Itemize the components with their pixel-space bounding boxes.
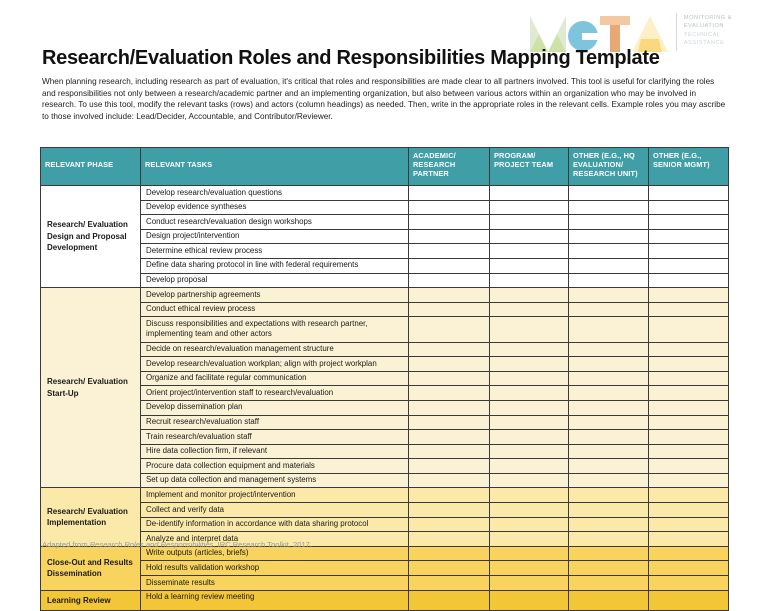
task-cell: Hold a learning review meeting xyxy=(141,590,409,610)
role-entry-cell-program-project-team[interactable] xyxy=(490,273,569,288)
role-entry-cell-other-senior-mgmt[interactable] xyxy=(649,244,729,259)
table-row: Orient project/intervention staff to res… xyxy=(41,386,729,401)
role-entry-cell-other-senior-mgmt[interactable] xyxy=(649,488,729,503)
task-cell: Define data sharing protocol in line wit… xyxy=(141,258,409,273)
footer-source-title: Research Roles and Responsibilities xyxy=(90,540,214,549)
logo-tagline-line-3: TECHNICAL xyxy=(684,31,732,39)
table-row: Hire data collection firm, if relevant xyxy=(41,444,729,459)
role-entry-cell-other-hq-evaluation-research-unit[interactable] xyxy=(569,317,649,342)
source-attribution: Adapted from Research Roles and Responsi… xyxy=(42,540,312,549)
role-entry-cell-other-senior-mgmt[interactable] xyxy=(649,357,729,372)
role-entry-cell-academic-research-partner[interactable] xyxy=(409,386,490,401)
table-row: Collect and verify data xyxy=(41,503,729,518)
role-entry-cell-program-project-team[interactable] xyxy=(490,244,569,259)
table-row: Research/ Evaluation Start-UpDevelop par… xyxy=(41,288,729,303)
table-header: RELEVANT PHASE RELEVANT TASKS ACADEMIC/R… xyxy=(41,148,729,186)
role-entry-cell-program-project-team[interactable] xyxy=(490,186,569,201)
role-entry-cell-other-senior-mgmt[interactable] xyxy=(649,444,729,459)
role-entry-cell-academic-research-partner[interactable] xyxy=(409,317,490,342)
role-entry-cell-academic-research-partner[interactable] xyxy=(409,273,490,288)
role-entry-cell-program-project-team[interactable] xyxy=(490,371,569,386)
role-entry-cell-other-senior-mgmt[interactable] xyxy=(649,532,729,547)
role-entry-cell-other-senior-mgmt[interactable] xyxy=(649,215,729,230)
role-entry-cell-other-senior-mgmt[interactable] xyxy=(649,386,729,401)
logo-divider xyxy=(676,13,677,51)
phase-cell: Close-Out and Results Dissemination xyxy=(41,546,141,590)
role-entry-cell-other-hq-evaluation-research-unit[interactable] xyxy=(569,258,649,273)
task-cell: Develop evidence syntheses xyxy=(141,200,409,215)
role-entry-cell-other-senior-mgmt[interactable] xyxy=(649,590,729,610)
role-entry-cell-program-project-team[interactable] xyxy=(490,561,569,576)
role-entry-cell-other-senior-mgmt[interactable] xyxy=(649,517,729,532)
table-row: De-identify information in accordance wi… xyxy=(41,517,729,532)
task-cell: Organize and facilitate regular communic… xyxy=(141,371,409,386)
role-entry-cell-other-senior-mgmt[interactable] xyxy=(649,503,729,518)
table-row: Discuss responsibilities and expectation… xyxy=(41,317,729,342)
role-entry-cell-other-senior-mgmt[interactable] xyxy=(649,371,729,386)
role-entry-cell-program-project-team[interactable] xyxy=(490,288,569,303)
column-header-other-hq-evaluation-research-unit: OTHER (E.G., HQEVALUATION/RESEARCH UNIT) xyxy=(569,148,649,186)
logo-tagline-line-2: EVALUATION xyxy=(684,22,732,30)
role-entry-cell-program-project-team[interactable] xyxy=(490,415,569,430)
role-entry-cell-other-hq-evaluation-research-unit[interactable] xyxy=(569,503,649,518)
task-cell: Discuss responsibilities and expectation… xyxy=(141,317,409,342)
role-entry-cell-academic-research-partner[interactable] xyxy=(409,546,490,561)
role-entry-cell-program-project-team[interactable] xyxy=(490,532,569,547)
footer-suffix: , IRC Research Toolkit, 2017. xyxy=(213,540,312,549)
task-cell: Hold results validation workshop xyxy=(141,561,409,576)
role-entry-cell-other-hq-evaluation-research-unit[interactable] xyxy=(569,229,649,244)
table-row: Recruit research/evaluation staff xyxy=(41,415,729,430)
phase-cell: Research/ Evaluation Design and Proposal… xyxy=(41,186,141,288)
role-entry-cell-other-hq-evaluation-research-unit[interactable] xyxy=(569,215,649,230)
role-entry-cell-academic-research-partner[interactable] xyxy=(409,415,490,430)
task-cell: Determine ethical review process xyxy=(141,244,409,259)
role-entry-cell-other-hq-evaluation-research-unit[interactable] xyxy=(569,200,649,215)
role-entry-cell-academic-research-partner[interactable] xyxy=(409,400,490,415)
role-entry-cell-academic-research-partner[interactable] xyxy=(409,215,490,230)
role-entry-cell-academic-research-partner[interactable] xyxy=(409,532,490,547)
task-cell: Develop partnership agreements xyxy=(141,288,409,303)
role-entry-cell-academic-research-partner[interactable] xyxy=(409,288,490,303)
role-entry-cell-other-hq-evaluation-research-unit[interactable] xyxy=(569,186,649,201)
role-entry-cell-other-senior-mgmt[interactable] xyxy=(649,342,729,357)
role-entry-cell-other-senior-mgmt[interactable] xyxy=(649,459,729,474)
column-header-relevant-tasks: RELEVANT TASKS xyxy=(141,148,409,186)
table-row: Develop research/evaluation workplan; al… xyxy=(41,357,729,372)
table-row: Research/ Evaluation Design and Proposal… xyxy=(41,186,729,201)
role-entry-cell-academic-research-partner[interactable] xyxy=(409,258,490,273)
document-page: MONITORING & EVALUATION TECHNICAL ASSIST… xyxy=(0,0,768,578)
role-entry-cell-academic-research-partner[interactable] xyxy=(409,488,490,503)
role-entry-cell-academic-research-partner[interactable] xyxy=(409,590,490,610)
role-entry-cell-other-hq-evaluation-research-unit[interactable] xyxy=(569,590,649,610)
role-entry-cell-academic-research-partner[interactable] xyxy=(409,186,490,201)
role-entry-cell-academic-research-partner[interactable] xyxy=(409,229,490,244)
task-cell: Develop research/evaluation workplan; al… xyxy=(141,357,409,372)
table-header-row: RELEVANT PHASE RELEVANT TASKS ACADEMIC/R… xyxy=(41,148,729,186)
task-cell: Procure data collection equipment and ma… xyxy=(141,459,409,474)
role-entry-cell-academic-research-partner[interactable] xyxy=(409,561,490,576)
role-entry-cell-other-hq-evaluation-research-unit[interactable] xyxy=(569,371,649,386)
role-entry-cell-other-hq-evaluation-research-unit[interactable] xyxy=(569,444,649,459)
task-cell: Decide on research/evaluation management… xyxy=(141,342,409,357)
column-header-academic-research-partner: ACADEMIC/RESEARCHPARTNER xyxy=(409,148,490,186)
table-row: Research/ Evaluation ImplementationImple… xyxy=(41,488,729,503)
role-entry-cell-other-hq-evaluation-research-unit[interactable] xyxy=(569,244,649,259)
role-entry-cell-other-senior-mgmt[interactable] xyxy=(649,317,729,342)
task-cell: Design project/intervention xyxy=(141,229,409,244)
task-cell: Train research/evaluation staff xyxy=(141,430,409,445)
column-header-program-project-team: PROGRAM/PROJECT TEAM xyxy=(490,148,569,186)
role-entry-cell-program-project-team[interactable] xyxy=(490,215,569,230)
role-entry-cell-program-project-team[interactable] xyxy=(490,444,569,459)
role-entry-cell-academic-research-partner[interactable] xyxy=(409,244,490,259)
role-entry-cell-academic-research-partner[interactable] xyxy=(409,342,490,357)
table-row: Train research/evaluation staff xyxy=(41,430,729,445)
role-entry-cell-other-hq-evaluation-research-unit[interactable] xyxy=(569,386,649,401)
column-header-other-senior-mgmt: OTHER (E.G.,SENIOR MGMT) xyxy=(649,148,729,186)
role-entry-cell-other-senior-mgmt[interactable] xyxy=(649,186,729,201)
role-entry-cell-program-project-team[interactable] xyxy=(490,342,569,357)
phase-cell: Research/ Evaluation Start-Up xyxy=(41,288,141,488)
role-entry-cell-program-project-team[interactable] xyxy=(490,357,569,372)
table-row: Develop proposal xyxy=(41,273,729,288)
role-entry-cell-program-project-team[interactable] xyxy=(490,200,569,215)
role-entry-cell-other-senior-mgmt[interactable] xyxy=(649,546,729,561)
role-entry-cell-program-project-team[interactable] xyxy=(490,488,569,503)
role-entry-cell-other-senior-mgmt[interactable] xyxy=(649,288,729,303)
role-entry-cell-other-senior-mgmt[interactable] xyxy=(649,561,729,576)
role-entry-cell-other-senior-mgmt[interactable] xyxy=(649,400,729,415)
logo-tagline-line-4: ASSISTANCE xyxy=(684,39,732,47)
role-entry-cell-academic-research-partner[interactable] xyxy=(409,357,490,372)
role-entry-cell-program-project-team[interactable] xyxy=(490,590,569,610)
role-entry-cell-academic-research-partner[interactable] xyxy=(409,517,490,532)
role-entry-cell-other-hq-evaluation-research-unit[interactable] xyxy=(569,517,649,532)
role-entry-cell-academic-research-partner[interactable] xyxy=(409,371,490,386)
role-entry-cell-other-senior-mgmt[interactable] xyxy=(649,229,729,244)
task-cell: Set up data collection and management sy… xyxy=(141,473,409,488)
role-entry-cell-program-project-team[interactable] xyxy=(490,229,569,244)
logo-tagline-line-1: MONITORING & xyxy=(684,14,732,22)
role-entry-cell-other-hq-evaluation-research-unit[interactable] xyxy=(569,288,649,303)
table-row: Organize and facilitate regular communic… xyxy=(41,371,729,386)
logo-tagline: MONITORING & EVALUATION TECHNICAL ASSIST… xyxy=(684,12,732,48)
task-cell: Develop research/evaluation questions xyxy=(141,186,409,201)
task-cell: Develop proposal xyxy=(141,273,409,288)
role-entry-cell-other-hq-evaluation-research-unit[interactable] xyxy=(569,430,649,445)
task-cell: Implement and monitor project/interventi… xyxy=(141,488,409,503)
column-header-relevant-phase: RELEVANT PHASE xyxy=(41,148,141,186)
role-entry-cell-academic-research-partner[interactable] xyxy=(409,444,490,459)
role-entry-cell-program-project-team[interactable] xyxy=(490,258,569,273)
role-entry-cell-program-project-team[interactable] xyxy=(490,546,569,561)
table-row: Decide on research/evaluation management… xyxy=(41,342,729,357)
role-entry-cell-program-project-team[interactable] xyxy=(490,517,569,532)
role-entry-cell-academic-research-partner[interactable] xyxy=(409,473,490,488)
role-entry-cell-other-senior-mgmt[interactable] xyxy=(649,430,729,445)
task-cell: Recruit research/evaluation staff xyxy=(141,415,409,430)
table-row: Define data sharing protocol in line wit… xyxy=(41,258,729,273)
role-entry-cell-program-project-team[interactable] xyxy=(490,459,569,474)
role-entry-cell-academic-research-partner[interactable] xyxy=(409,302,490,317)
phase-cell: Research/ Evaluation Implementation xyxy=(41,488,141,546)
role-entry-cell-other-senior-mgmt[interactable] xyxy=(649,473,729,488)
role-entry-cell-other-hq-evaluation-research-unit[interactable] xyxy=(569,546,649,561)
role-entry-cell-other-hq-evaluation-research-unit[interactable] xyxy=(569,400,649,415)
role-entry-cell-other-senior-mgmt[interactable] xyxy=(649,273,729,288)
role-entry-cell-other-senior-mgmt[interactable] xyxy=(649,415,729,430)
role-entry-cell-program-project-team[interactable] xyxy=(490,386,569,401)
task-cell: Develop dissemination plan xyxy=(141,400,409,415)
role-entry-cell-academic-research-partner[interactable] xyxy=(409,200,490,215)
role-entry-cell-other-hq-evaluation-research-unit[interactable] xyxy=(569,532,649,547)
role-entry-cell-other-hq-evaluation-research-unit[interactable] xyxy=(569,342,649,357)
table-row: Determine ethical review process xyxy=(41,244,729,259)
role-entry-cell-other-hq-evaluation-research-unit[interactable] xyxy=(569,273,649,288)
role-entry-cell-program-project-team[interactable] xyxy=(490,503,569,518)
role-entry-cell-other-senior-mgmt[interactable] xyxy=(649,258,729,273)
table-row: Set up data collection and management sy… xyxy=(41,473,729,488)
role-entry-cell-other-hq-evaluation-research-unit[interactable] xyxy=(569,302,649,317)
footer-prefix: Adapted from xyxy=(42,540,90,549)
role-entry-cell-academic-research-partner[interactable] xyxy=(409,430,490,445)
table-row: Conduct research/evaluation design works… xyxy=(41,215,729,230)
table-row: Conduct ethical review process xyxy=(41,302,729,317)
task-cell: Conduct research/evaluation design works… xyxy=(141,215,409,230)
role-entry-cell-program-project-team[interactable] xyxy=(490,317,569,342)
table-row: Learning ReviewHold a learning review me… xyxy=(41,590,729,610)
role-entry-cell-other-senior-mgmt[interactable] xyxy=(649,200,729,215)
task-cell: De-identify information in accordance wi… xyxy=(141,517,409,532)
role-entry-cell-other-hq-evaluation-research-unit[interactable] xyxy=(569,357,649,372)
role-entry-cell-program-project-team[interactable] xyxy=(490,473,569,488)
page-title: Research/Evaluation Roles and Responsibi… xyxy=(42,47,660,70)
table-row: Develop evidence syntheses xyxy=(41,200,729,215)
table-row: Hold results validation workshop xyxy=(41,561,729,576)
role-entry-cell-other-hq-evaluation-research-unit[interactable] xyxy=(569,415,649,430)
table-row: Develop dissemination plan xyxy=(41,400,729,415)
role-entry-cell-program-project-team[interactable] xyxy=(490,302,569,317)
role-entry-cell-other-hq-evaluation-research-unit[interactable] xyxy=(569,473,649,488)
task-cell: Hire data collection firm, if relevant xyxy=(141,444,409,459)
role-entry-cell-program-project-team[interactable] xyxy=(490,430,569,445)
table-row: Procure data collection equipment and ma… xyxy=(41,459,729,474)
phase-cell: Learning Review xyxy=(41,590,141,610)
role-entry-cell-program-project-team[interactable] xyxy=(490,400,569,415)
intro-paragraph: When planning research, including resear… xyxy=(42,76,730,122)
meta-logo-mark xyxy=(530,12,668,52)
task-cell: Conduct ethical review process xyxy=(141,302,409,317)
role-entry-cell-other-hq-evaluation-research-unit[interactable] xyxy=(569,561,649,576)
task-cell: Collect and verify data xyxy=(141,503,409,518)
table-row: Design project/intervention xyxy=(41,229,729,244)
role-entry-cell-other-hq-evaluation-research-unit[interactable] xyxy=(569,488,649,503)
task-cell: Orient project/intervention staff to res… xyxy=(141,386,409,401)
role-entry-cell-academic-research-partner[interactable] xyxy=(409,459,490,474)
role-entry-cell-other-hq-evaluation-research-unit[interactable] xyxy=(569,459,649,474)
role-entry-cell-other-senior-mgmt[interactable] xyxy=(649,302,729,317)
role-entry-cell-academic-research-partner[interactable] xyxy=(409,503,490,518)
